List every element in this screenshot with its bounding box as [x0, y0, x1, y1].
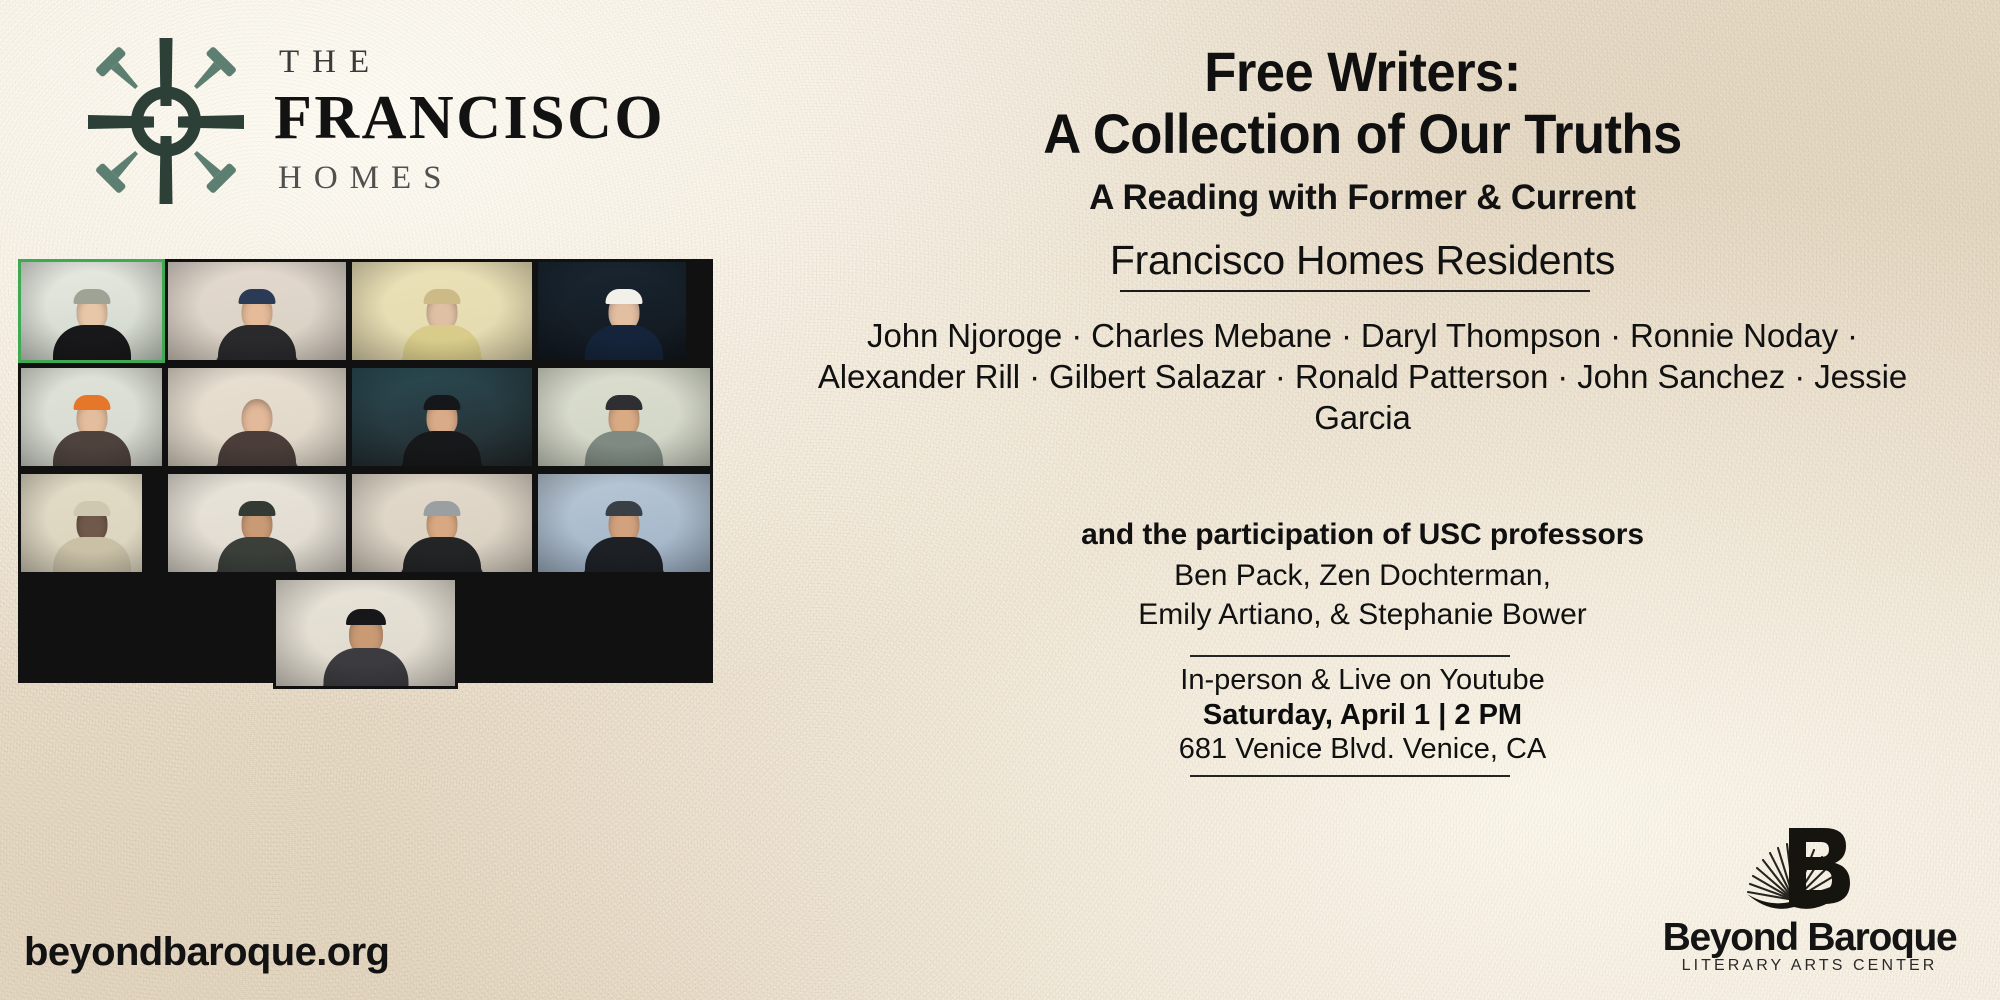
zoom-tile-vignette — [276, 580, 455, 686]
participants-names: Ben Pack, Zen Dochterman, Emily Artiano,… — [795, 556, 1930, 635]
zoom-tile-vignette — [168, 262, 346, 360]
zoom-tile-vignette — [538, 262, 710, 360]
participants-line-2: Emily Artiano, & Stephanie Bower — [795, 595, 1930, 634]
zoom-participant-tile[interactable] — [165, 471, 349, 575]
event-address: 681 Venice Blvd. Venice, CA — [725, 733, 2000, 766]
zoom-participant-tile[interactable] — [535, 365, 713, 469]
zoom-participant-tile[interactable] — [18, 259, 165, 363]
zoom-grid-row — [18, 471, 713, 575]
zoom-participant-video — [168, 262, 346, 360]
zoom-participant-video — [352, 262, 532, 360]
zoom-participant-tile[interactable] — [535, 471, 713, 575]
zoom-tile-clipped-edge — [686, 262, 710, 360]
book-b-icon — [1742, 822, 1872, 918]
zoom-participant-video — [21, 262, 162, 360]
zoom-tile-vignette — [21, 368, 162, 466]
zoom-tile-vignette — [352, 368, 532, 466]
zoom-tile-vignette — [352, 474, 532, 572]
zoom-participant-video — [168, 474, 346, 572]
zoom-tile-clipped-edge — [142, 474, 162, 572]
divider-bottom — [1190, 775, 1510, 777]
event-format: In-person & Live on Youtube — [725, 664, 2000, 697]
zoom-tile-vignette — [21, 262, 162, 360]
zoom-participant-tile[interactable] — [273, 577, 458, 689]
zoom-participant-tile[interactable] — [349, 259, 535, 363]
event-datetime: Saturday, April 1 | 2 PM — [725, 699, 2000, 732]
poster-canvas: THE FRANCISCO HOMES Free Writers: A Coll… — [0, 0, 2000, 1000]
zoom-participant-video — [276, 580, 455, 686]
website-url[interactable]: beyondbaroque.org — [24, 930, 389, 975]
logo-line-francisco: FRANCISCO — [274, 84, 636, 153]
subtitle-line-2: Francisco Homes Residents — [725, 237, 2000, 284]
participants-line-1: Ben Pack, Zen Dochterman, — [795, 556, 1930, 595]
zoom-grid-row — [18, 259, 713, 363]
zoom-participant-tile[interactable] — [349, 471, 535, 575]
participants-heading: and the participation of USC professors — [725, 518, 2000, 552]
zoom-participant-video — [352, 474, 532, 572]
beyond-baroque-name: Beyond Baroque — [1637, 918, 1982, 957]
zoom-participant-video — [538, 368, 710, 466]
zoom-tile-vignette — [168, 474, 346, 572]
divider-middle — [1190, 655, 1510, 657]
zoom-participant-video — [21, 474, 162, 572]
zoom-tile-vignette — [538, 474, 710, 572]
zoom-participant-video — [352, 368, 532, 466]
logo-line-homes: HOMES — [274, 162, 636, 195]
zoom-grid-row — [18, 365, 713, 469]
zoom-participant-video — [538, 474, 710, 572]
zoom-participant-tile[interactable] — [165, 365, 349, 469]
zoom-grid-row — [18, 577, 713, 689]
headline-line-1: Free Writers: — [763, 44, 1962, 100]
zoom-meeting-screenshot — [18, 259, 713, 683]
zoom-participant-tile[interactable] — [165, 259, 349, 363]
readers-list: John Njoroge · Charles Mebane · Daryl Th… — [795, 316, 1930, 439]
zoom-tile-vignette — [168, 368, 346, 466]
zoom-participant-video — [168, 368, 346, 466]
logo-line-the: THE — [274, 46, 636, 79]
zoom-participant-tile[interactable] — [18, 471, 165, 575]
beyond-baroque-tagline: LITERARY ARTS CENTER — [1637, 958, 1982, 974]
divider-top — [1120, 290, 1590, 292]
headline-line-2: A Collection of Our Truths — [763, 106, 1962, 162]
francisco-homes-logo: THE FRANCISCO HOMES — [76, 32, 636, 208]
beyond-baroque-logo: Beyond Baroque LITERARY ARTS CENTER — [1637, 822, 1982, 982]
subtitle-line-1: A Reading with Former & Current — [725, 178, 2000, 218]
cross-with-nails-icon — [76, 32, 256, 208]
zoom-tile-vignette — [352, 262, 532, 360]
zoom-participant-video — [538, 262, 710, 360]
zoom-participant-tile[interactable] — [535, 259, 713, 363]
zoom-participant-tile[interactable] — [349, 365, 535, 469]
zoom-tile-vignette — [538, 368, 710, 466]
francisco-homes-wordmark: THE FRANCISCO HOMES — [274, 46, 636, 195]
zoom-participant-tile[interactable] — [18, 365, 165, 469]
zoom-participant-video — [21, 368, 162, 466]
zoom-tile-vignette — [21, 474, 162, 572]
